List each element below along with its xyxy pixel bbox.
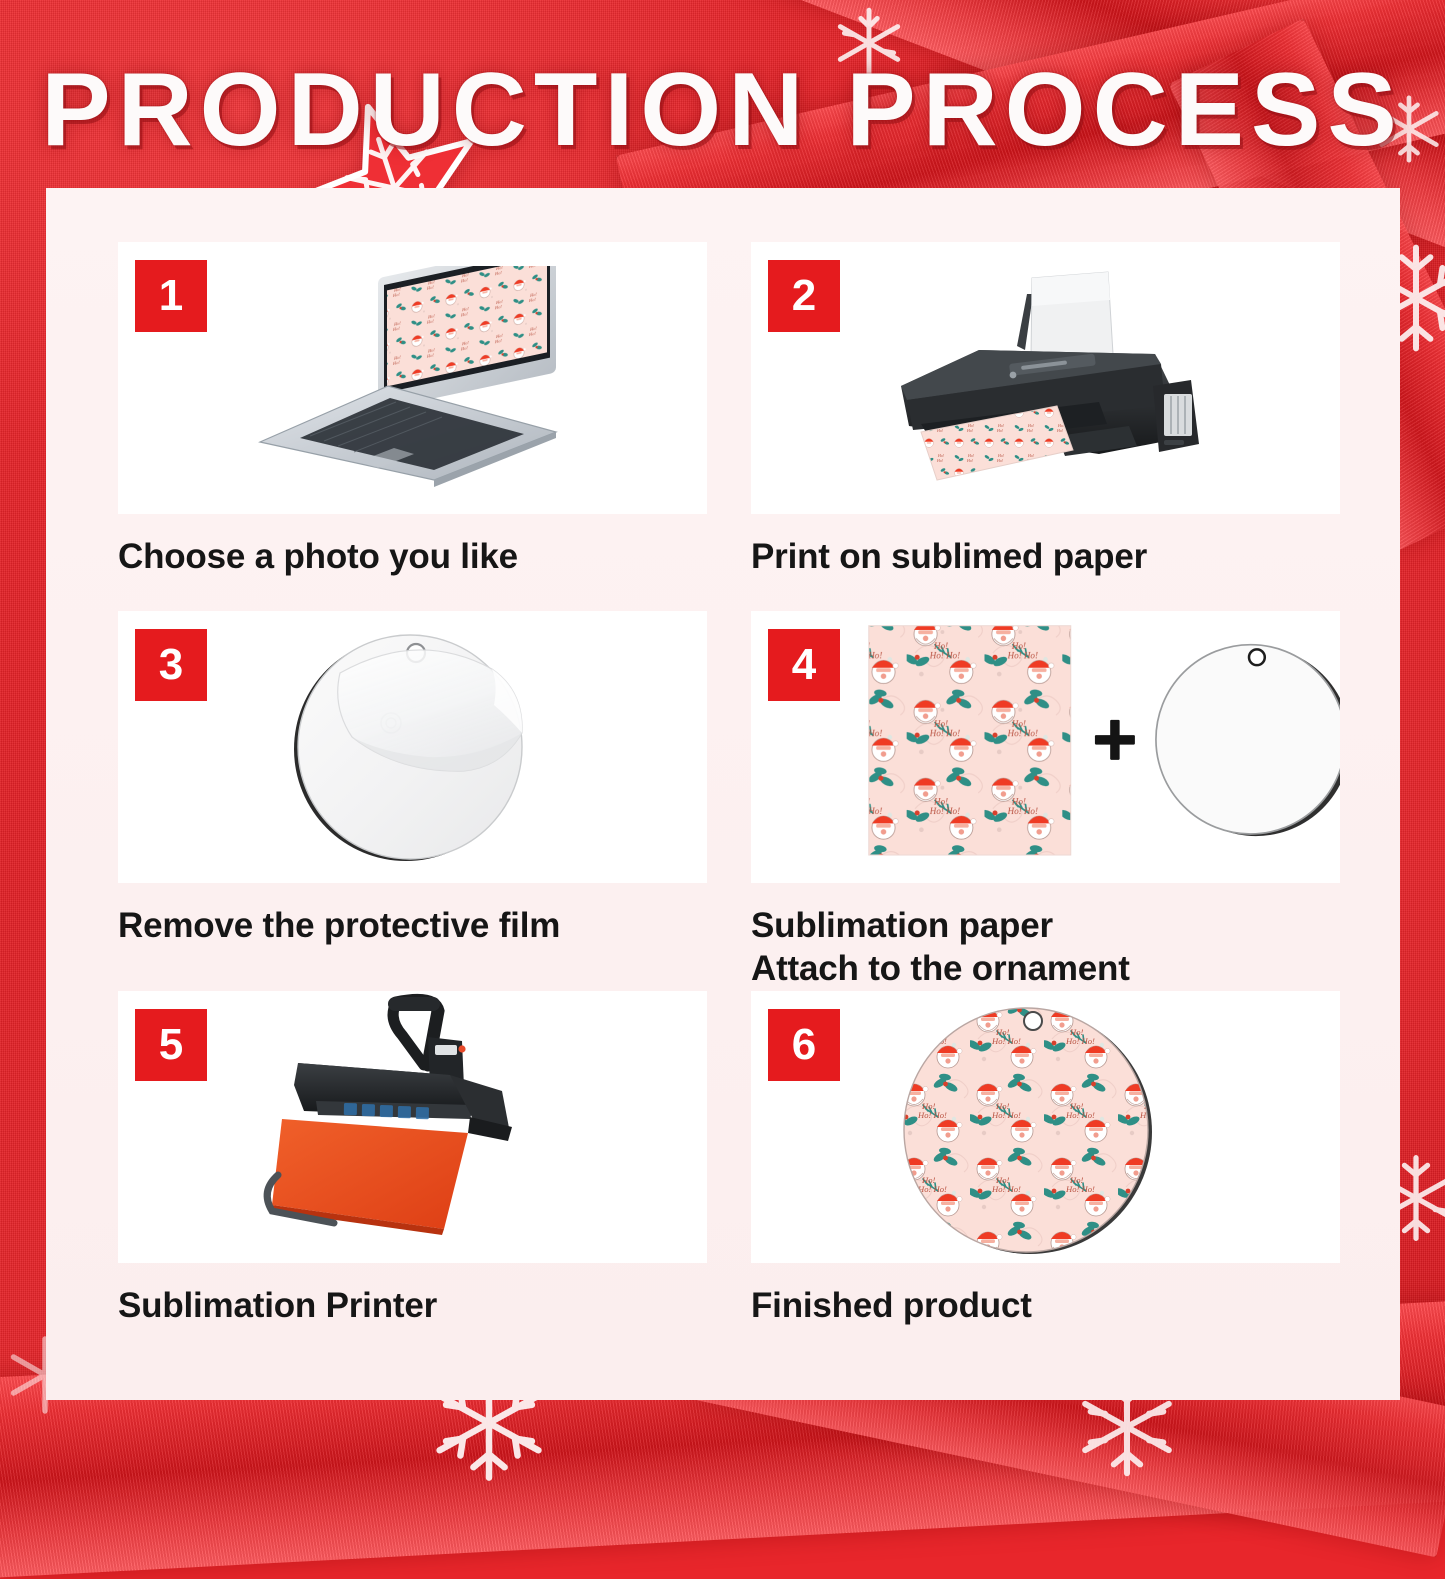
page-title: PRODUCTION PROCESS — [0, 58, 1445, 162]
step-2: 2 — [751, 242, 1340, 611]
step-2-image-card: 2 — [751, 242, 1340, 514]
step-5-image-card: 5 — [118, 991, 707, 1263]
acrylic-disc-with-film-icon — [278, 621, 528, 876]
step-5: 5 — [118, 991, 707, 1360]
step-1-number-badge: 1 — [135, 260, 207, 332]
steps-grid: 1 — [46, 188, 1400, 1400]
laptop-icon: Ho! Ho! — [238, 266, 568, 496]
step-4-image-card: 4 — [751, 611, 1340, 883]
step-2-number-badge: 2 — [768, 260, 840, 332]
finished-ornament-icon: Ho! Ho! Ho! — [896, 999, 1156, 1261]
step-1-caption: Choose a photo you like — [118, 536, 707, 579]
step-2-caption: Print on sublimed paper — [751, 536, 1340, 579]
step-3-image-card: 3 — [118, 611, 707, 883]
plus-symbol — [1095, 720, 1135, 760]
step-6: 6 — [751, 991, 1340, 1360]
step-1-image-card: 1 — [118, 242, 707, 514]
step-4-number-badge: 4 — [768, 629, 840, 701]
step-1: 1 — [118, 242, 707, 611]
heat-press-icon — [238, 991, 578, 1263]
step-3: 3 — [118, 611, 707, 990]
step-3-caption: Remove the protective film — [118, 905, 707, 948]
step-5-caption: Sublimation Printer — [118, 1285, 707, 1328]
steps-panel: 1 — [46, 188, 1400, 1400]
step-3-number-badge: 3 — [135, 629, 207, 701]
step-5-number-badge: 5 — [135, 1009, 207, 1081]
step-4: 4 — [751, 611, 1340, 990]
step-6-number-badge: 6 — [768, 1009, 840, 1081]
printer-icon: Ho! Ho! — [861, 254, 1211, 504]
step-6-caption: Finished product — [751, 1285, 1340, 1328]
step-4-caption: Sublimation paper Attach to the ornament — [751, 905, 1340, 990]
step-6-image-card: 6 — [751, 991, 1340, 1263]
